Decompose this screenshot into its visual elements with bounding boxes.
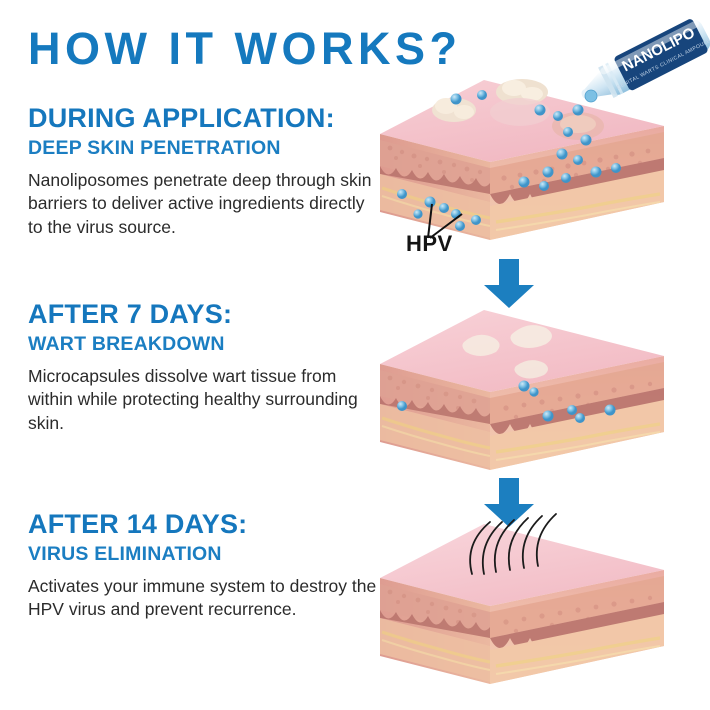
skin-illustration-after-14-days (372, 508, 672, 686)
section-2-heading: AFTER 7 DAYS: (28, 300, 380, 329)
section-2-body: Microcapsules dissolve wart tissue from … (28, 365, 380, 436)
section-3-subheading: VIRUS ELIMINATION (28, 543, 380, 565)
section-1-subheading: DEEP SKIN PENETRATION (28, 137, 380, 159)
section-after-14-days: AFTER 14 DAYS: VIRUS ELIMINATION Activat… (28, 510, 380, 622)
hpv-annotation-label: HPV (406, 231, 453, 257)
section-3-body: Activates your immune system to destroy … (28, 575, 380, 623)
section-after-7-days: AFTER 7 DAYS: WART BREAKDOWN Microcapsul… (28, 300, 380, 436)
section-during-application: DURING APPLICATION: DEEP SKIN PENETRATIO… (28, 104, 380, 240)
section-2-subheading: WART BREAKDOWN (28, 333, 380, 355)
skin-illustration-after-7-days (372, 300, 672, 472)
section-1-body: Nanoliposomes penetrate deep through ski… (28, 169, 380, 240)
section-3-heading: AFTER 14 DAYS: (28, 510, 380, 539)
section-1-heading: DURING APPLICATION: (28, 104, 380, 133)
infographic-page: HOW IT WORKS? (0, 0, 710, 710)
applicator-pen: NANOLIPO GENITAL WARTS CLINICAL AMPOULES (572, 18, 710, 114)
